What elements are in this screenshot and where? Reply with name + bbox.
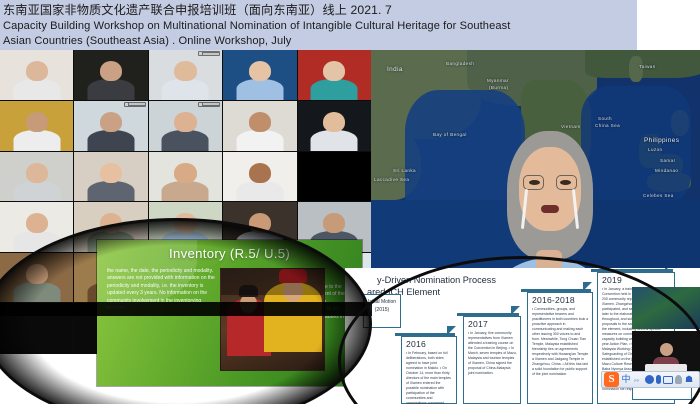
map-label: Mindanao <box>655 168 678 173</box>
participant-video-background <box>298 152 371 202</box>
participant-body <box>88 79 135 100</box>
participant-tile[interactable] <box>298 152 371 202</box>
initial-motion-box: Initial Motion (2015) <box>363 294 401 328</box>
participant-tile[interactable] <box>298 50 371 100</box>
participant-video-background <box>0 304 73 354</box>
participant-head <box>174 213 196 233</box>
participant-tile[interactable] <box>0 202 73 252</box>
participant-head <box>323 213 345 233</box>
timeline-milestone: 2016-2018• Communities, groups, and repr… <box>527 292 593 404</box>
participant-head <box>26 213 48 233</box>
participant-tile[interactable] <box>0 101 73 151</box>
participant-name-badge <box>124 102 146 107</box>
participant-head <box>26 163 48 183</box>
participant-body <box>236 79 283 100</box>
presentation-slide-inventory: Inventory (R.5/ U.5) the name, the date,… <box>97 240 362 386</box>
map-label: Celebes Sea <box>643 193 674 198</box>
participant-name-badge <box>198 102 220 107</box>
map-label: (Burma) <box>489 85 508 90</box>
participant-tile[interactable] <box>0 253 73 303</box>
map-label: Sri Lanka <box>393 168 416 173</box>
timeline-milestone: 2017• In January, five community represe… <box>463 316 521 404</box>
participant-head <box>323 61 345 81</box>
participant-tile[interactable] <box>149 101 222 151</box>
participant-tile[interactable] <box>0 152 73 202</box>
map-label: Laccadive Sea <box>374 177 409 182</box>
slide-photo <box>220 268 325 371</box>
map-label: India <box>387 66 403 73</box>
participant-head <box>100 213 122 233</box>
map-label: Taiwan <box>639 64 656 69</box>
punctuation-icon[interactable]: ，。 <box>633 377 643 383</box>
timeline-text: • In February, based on full deliberatio… <box>406 351 453 404</box>
participant-body <box>311 79 358 100</box>
participant-tile[interactable] <box>223 152 296 202</box>
participant-body <box>236 130 283 151</box>
thumbnail-speaker[interactable] <box>632 331 700 373</box>
slide-bullets-left: the name, the date, the periodicity and … <box>107 268 219 312</box>
user-icon[interactable] <box>675 375 682 384</box>
thumbnail-strip[interactable] <box>632 287 700 375</box>
participant-tile[interactable] <box>149 152 222 202</box>
map-label: Luzon <box>648 147 663 152</box>
participant-body <box>162 130 209 151</box>
map-label: Myanmar <box>487 78 509 83</box>
map-label: Bay of Bengal <box>433 132 467 137</box>
participant-head <box>323 112 345 132</box>
map-label: Philippines <box>644 137 679 144</box>
participant-tile[interactable] <box>223 101 296 151</box>
participant-head <box>100 163 122 183</box>
meeting-stage: IndiaBangladeshMyanmar(Burma)Bay of Beng… <box>0 50 700 404</box>
participant-head <box>174 112 196 132</box>
header-filler <box>637 0 700 50</box>
voice-input-icon[interactable] <box>656 375 661 384</box>
participant-body <box>162 181 209 202</box>
participant-head <box>249 163 271 183</box>
participant-tile[interactable] <box>0 50 73 100</box>
participant-head <box>26 112 48 132</box>
timeline-text: • Communities, groups, and representativ… <box>532 307 589 377</box>
header-title-english-line1: Capacity Building Workshop on Multinatio… <box>3 19 633 34</box>
participant-head <box>26 264 48 284</box>
participant-body <box>311 130 358 151</box>
map-label: Bangladesh <box>446 61 474 66</box>
header-title-chinese: 东南亚国家非物质文化遗产联合申报培训班（面向东南亚）线上 2021. 7 <box>3 2 633 19</box>
participant-tile[interactable] <box>223 50 296 100</box>
participant-head <box>100 61 122 81</box>
sogou-ime-toolbar[interactable]: S 中 ，。 ☗ <box>601 371 700 388</box>
participant-head <box>249 213 271 233</box>
participant-body <box>162 79 209 100</box>
participant-head <box>26 61 48 81</box>
header-title-english-line2: Asian Countries (Southeast Asia) . Onlin… <box>3 34 633 49</box>
participant-body <box>236 181 283 202</box>
soft-keyboard-icon[interactable] <box>663 376 673 384</box>
participant-head <box>174 163 196 183</box>
slide-title: Inventory (R.5/ U.5) <box>169 246 290 261</box>
participant-body <box>88 130 135 151</box>
timeline-text: • In January, five community representat… <box>468 331 517 376</box>
participant-body <box>13 130 60 151</box>
speaker-glasses-right <box>556 175 577 190</box>
chinese-mode-icon[interactable]: 中 <box>621 375 631 384</box>
participant-tile[interactable] <box>74 101 147 151</box>
participant-tile[interactable] <box>74 50 147 100</box>
participant-tile[interactable] <box>149 50 222 100</box>
toolbox-icon[interactable]: ☗ <box>684 375 694 384</box>
thumbnail-map[interactable] <box>632 287 700 329</box>
timeline-year: 2016 <box>406 339 426 349</box>
participant-tile[interactable] <box>298 101 371 151</box>
participant-head <box>249 112 271 132</box>
screenshot-root: 东南亚国家非物质文化遗产联合申报培训班（面向东南亚）线上 2021. 7 Cap… <box>0 0 700 404</box>
timeline-title-line1: y-Driven Nomination Process <box>377 274 496 286</box>
participant-body <box>13 231 60 252</box>
timeline-milestone: 2016• In February, based on full deliber… <box>401 336 457 404</box>
participant-body <box>88 181 135 202</box>
participant-tile[interactable] <box>74 152 147 202</box>
participant-name-badge <box>198 51 220 56</box>
timeline-year: 2016-2018 <box>532 295 575 305</box>
participant-tile[interactable] <box>0 304 73 354</box>
emoji-icon[interactable] <box>645 375 654 384</box>
participant-body <box>13 181 60 202</box>
speaker-glasses-left <box>523 175 544 190</box>
participant-head <box>174 61 196 81</box>
page-header: 东南亚国家非物质文化遗产联合申报培训班（面向东南亚）线上 2021. 7 Cap… <box>0 0 637 50</box>
timeline-year: 2019 <box>602 275 622 285</box>
sogou-logo-icon[interactable]: S <box>604 372 619 387</box>
map-label: Samar <box>660 158 676 163</box>
participant-body <box>13 282 60 303</box>
participant-head <box>249 61 271 81</box>
participant-head <box>100 112 122 132</box>
timeline-year: 2017 <box>468 319 488 329</box>
speaker-mouth <box>541 205 559 213</box>
participant-body <box>13 79 60 100</box>
